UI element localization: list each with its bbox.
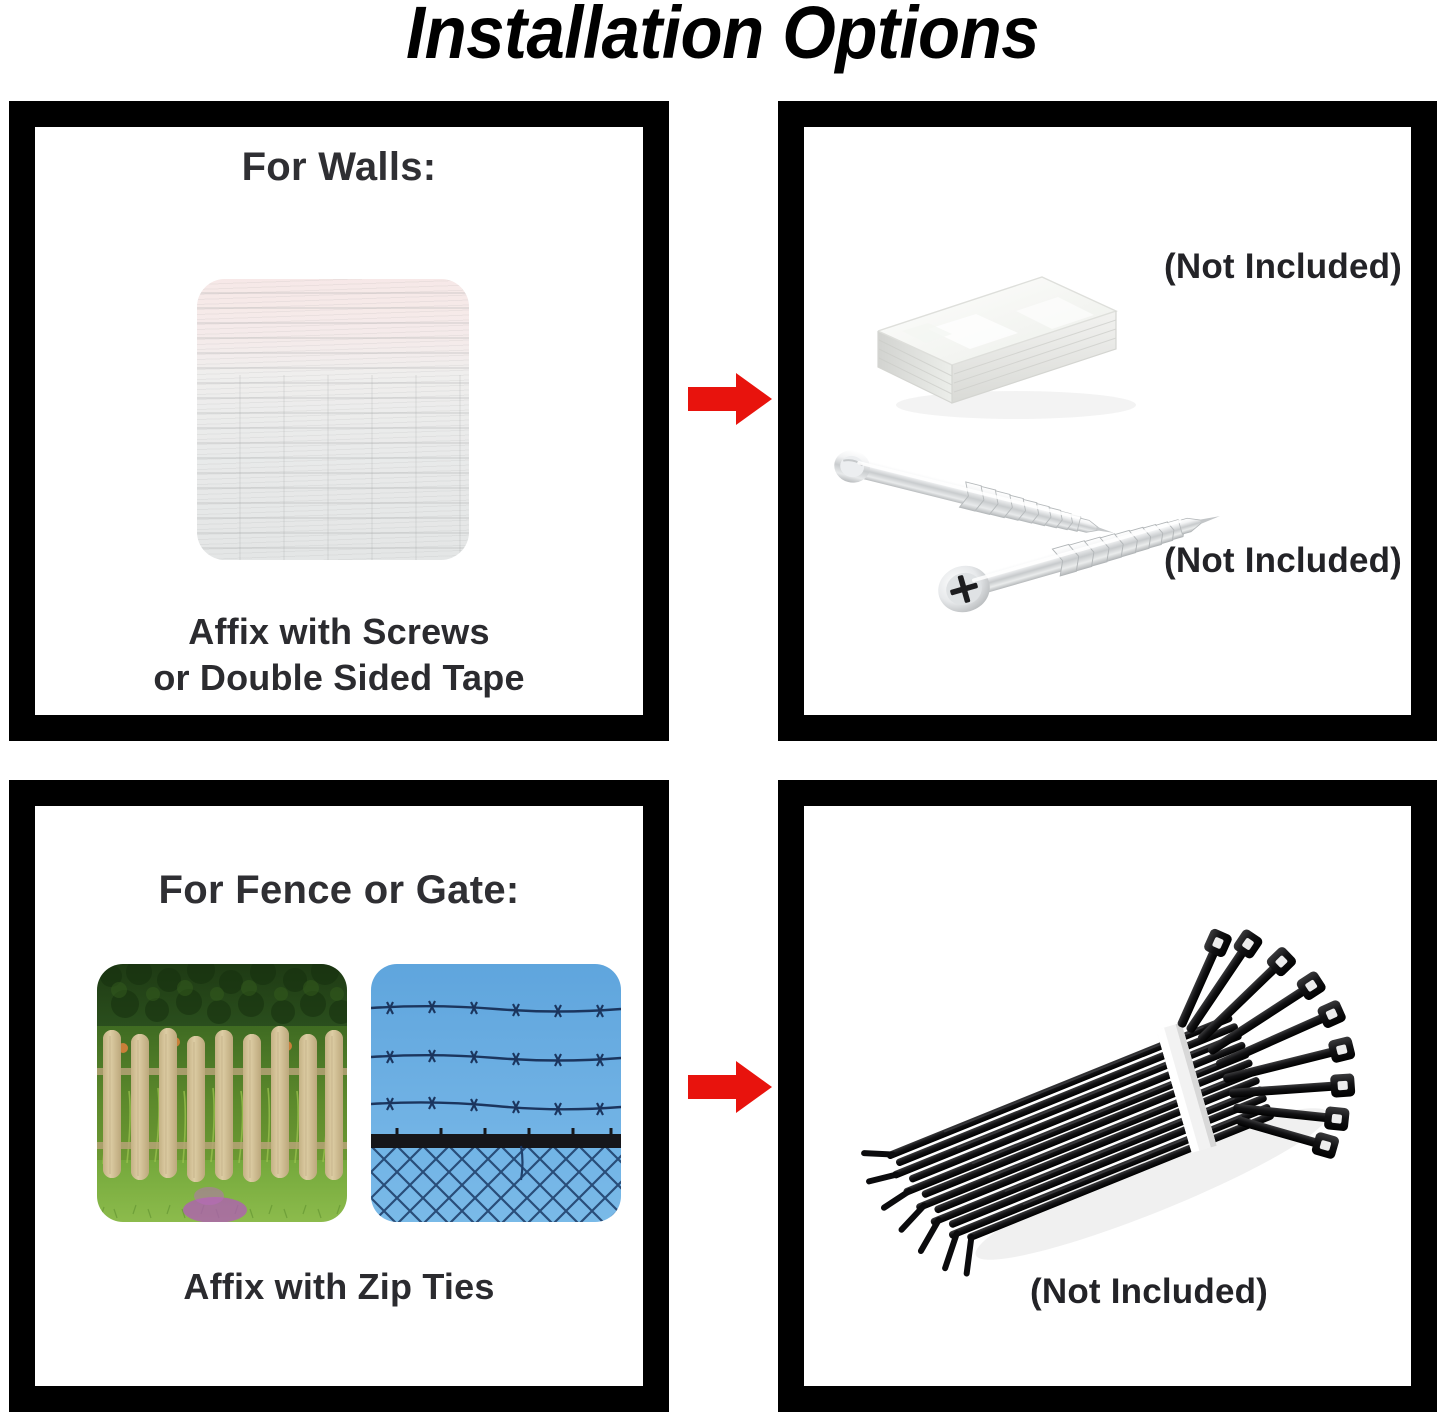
- panel-walls-caption-line2: or Double Sided Tape: [35, 655, 643, 701]
- white-brick-wall-swatch: [197, 279, 469, 560]
- panel-fence-heading: For Fence or Gate:: [35, 868, 643, 913]
- red-right-arrow-top: [688, 372, 772, 426]
- wooden-picket-fence-photo: [97, 964, 347, 1222]
- panel-wall-hardware: (Not Included): [778, 101, 1437, 741]
- panel-fence-caption: Affix with Zip Ties: [35, 1264, 643, 1310]
- panel-for-walls: For Walls: Affix with Screws or Double S…: [9, 101, 669, 741]
- black-zip-tie-bundle-image: [852, 884, 1372, 1304]
- panel-for-fence-or-gate: For Fence or Gate:: [9, 780, 669, 1412]
- tape-not-included-note: (Not Included): [1164, 247, 1402, 287]
- page-title: Installation Options: [51, 0, 1395, 70]
- chain-link-barbed-wire-fence-photo: [371, 964, 621, 1222]
- panel-walls-caption-line1: Affix with Screws: [35, 609, 643, 655]
- panel-zip-ties: (Not Included): [778, 780, 1437, 1412]
- wall-swatch-grain: [197, 279, 469, 560]
- zipties-not-included-note: (Not Included): [1030, 1272, 1268, 1312]
- panel-walls-heading: For Walls:: [35, 145, 643, 190]
- screws-not-included-note: (Not Included): [1164, 541, 1402, 581]
- double-sided-tape-stack-image: [866, 237, 1166, 427]
- red-right-arrow-bottom: [688, 1060, 772, 1114]
